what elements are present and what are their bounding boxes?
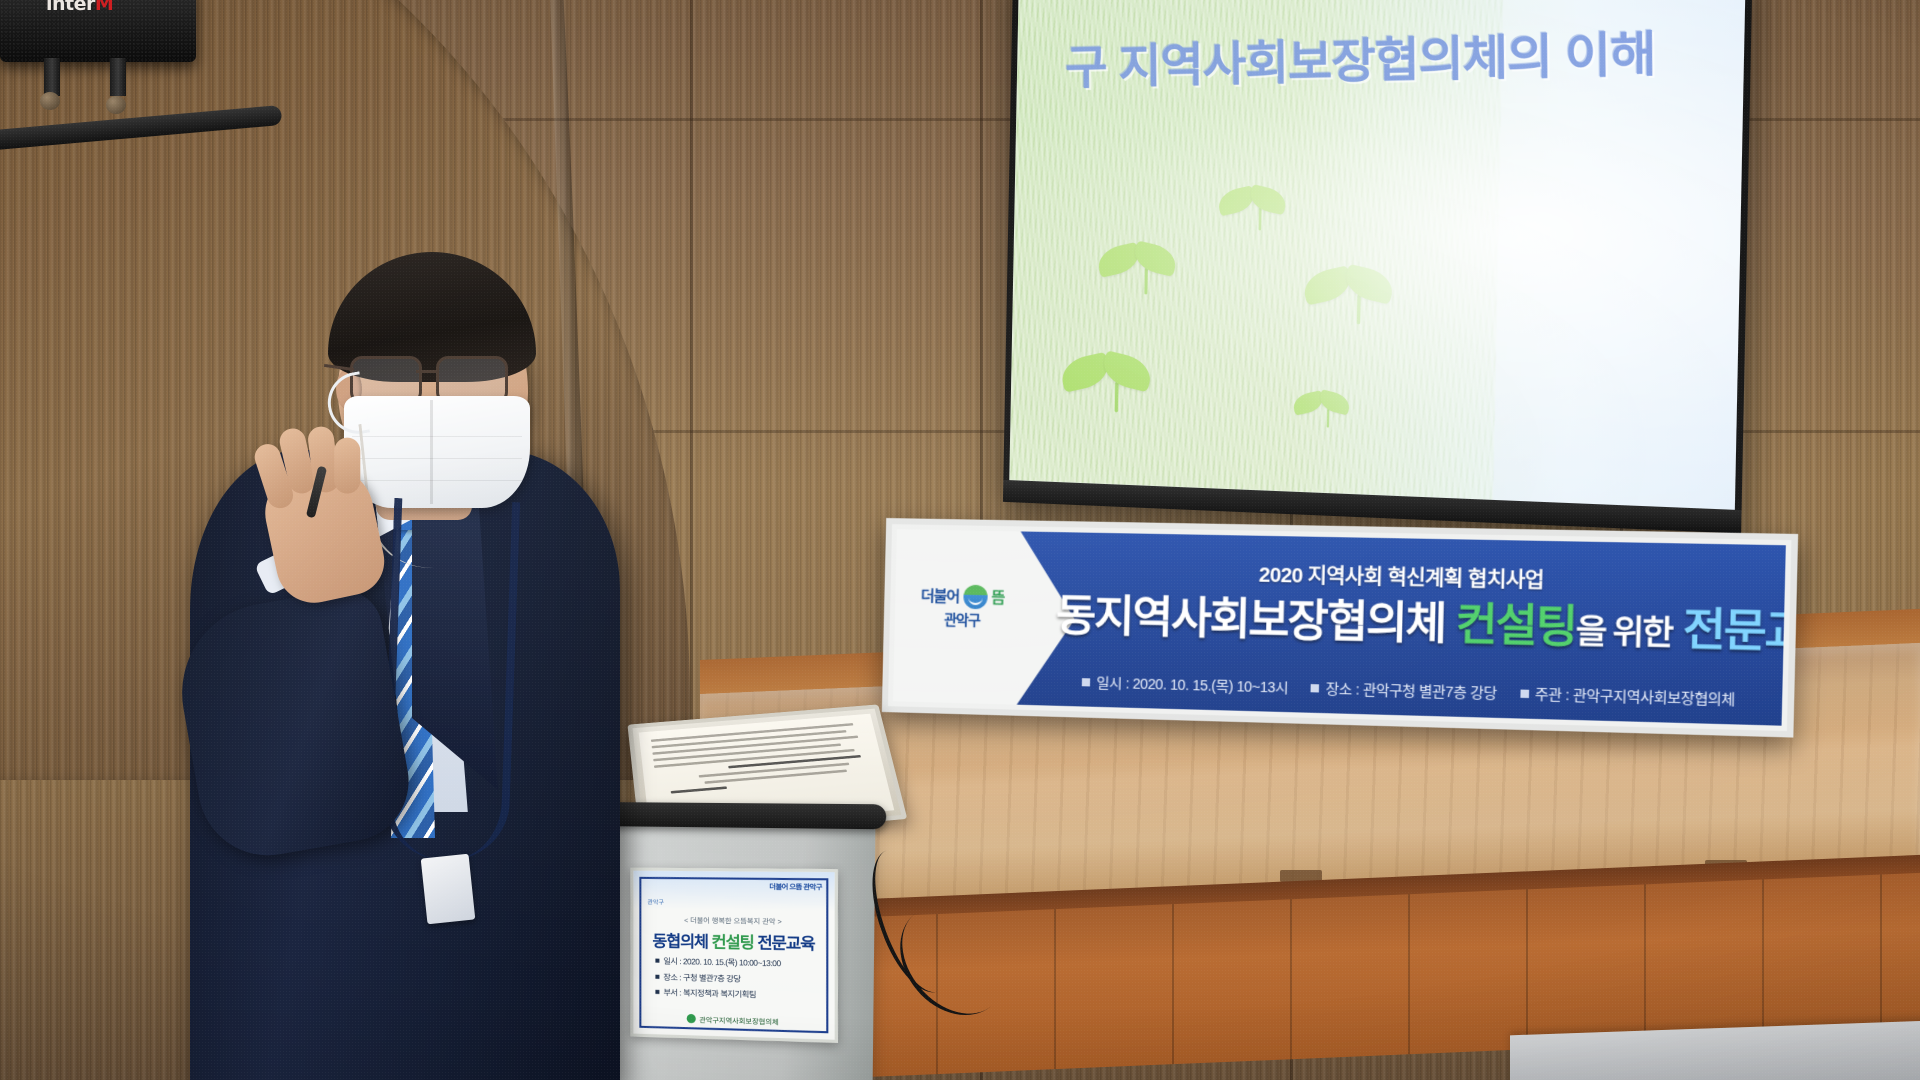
projection-screen: 구 지역사회보장협의체의 이해	[1003, 0, 1753, 533]
banner-title-part2: 컨설팅	[1455, 600, 1576, 652]
screen-surface: 구 지역사회보장협의체의 이해	[1009, 0, 1746, 510]
footer-place-label: 장소	[1326, 680, 1352, 697]
presenter	[160, 300, 680, 1080]
sign-title-part2: 컨설팅	[712, 934, 754, 952]
banner-inner: 더불어 뜸 관악구 2020 지역사회 혁신계획 협치사업 동지역사회보장협의체…	[893, 529, 1786, 725]
speaker-brand-suffix: M	[95, 0, 113, 15]
banner-title-part4: 전문교육	[1682, 605, 1786, 659]
footer-date-label: 일시	[1096, 674, 1122, 691]
event-banner: 더불어 뜸 관악구 2020 지역사회 혁신계획 협치사업 동지역사회보장협의체…	[882, 518, 1798, 738]
logo-line1-right: 뜸	[991, 586, 1004, 607]
speaker-mount-bracket	[110, 58, 126, 96]
speaker-mount-bracket	[44, 58, 60, 96]
sign-logo-top-right: 더불어 으뜸 관악구	[769, 882, 822, 893]
sign-row-value: 복지정책과 복지기획팀	[683, 989, 756, 1000]
footer-host-value: 관악구지역사회보장협의체	[1573, 687, 1735, 708]
banner-title-part3: 을 위한	[1575, 612, 1672, 652]
bullet-square-icon	[1311, 684, 1320, 692]
speaker-brand-logo: interM	[46, 0, 113, 15]
sign-organization-label: 관악구지역사회보장협의체	[699, 1017, 779, 1026]
logo-line2: 관악구	[944, 609, 980, 630]
sign-title-part3: 전문교육	[757, 935, 814, 953]
speaker-mount-bolt	[106, 96, 126, 114]
footer-place-value: 관악구청 별관7층 강당	[1363, 681, 1497, 701]
org-logo-icon	[687, 1014, 696, 1023]
footer-host-label: 주관	[1535, 686, 1562, 703]
smile-circle-icon	[963, 584, 988, 609]
eyeglasses-icon	[350, 356, 526, 400]
logo-line1-left: 더불어	[921, 585, 960, 607]
ceiling-speaker: interM	[0, 0, 196, 62]
bullet-square-icon	[1520, 690, 1529, 699]
eyeglass-bridge	[416, 370, 438, 373]
footer-date-value: 2020. 10. 15.(목) 10~13시	[1132, 675, 1288, 695]
banner-title-part1: 동지역사회보장협의체	[1055, 592, 1445, 650]
speaker-brand-prefix: inter	[46, 0, 95, 15]
speaker-mount-bolt	[40, 92, 60, 110]
sign-detail-lines: 일시 : 2020. 10. 15.(목) 10:00~13:00 장소 : 구…	[655, 954, 824, 1006]
photo-scene: interM 구 지역사회보장협의체의 이해	[0, 0, 1920, 1080]
lanyard-id-card	[421, 854, 476, 925]
sign-row-value: 2020. 10. 15.(목) 10:00~13:00	[683, 957, 781, 968]
sign-row-value: 구청 별관7층 강당	[683, 973, 741, 983]
bullet-square-icon	[1082, 678, 1090, 686]
